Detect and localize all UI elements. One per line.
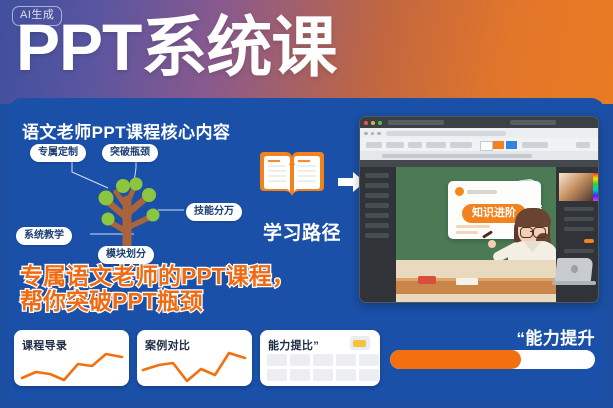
panel-item [365,223,389,228]
grid-block [336,354,356,366]
mockup-titlebar [360,117,598,128]
headline: 专属语文老师的PPT课程， 帮你突破PPT瓶颈 [20,264,295,314]
tree-leaf [99,191,114,206]
panel-item [365,233,389,238]
mockup-toolbar [360,138,598,152]
toolbar-item [522,142,548,148]
thumbnail-icon [350,336,370,350]
mockup-ribbon [360,151,598,160]
slide-body-line [456,225,490,228]
panel-item [564,227,594,231]
open-book-icon [256,146,328,204]
forward-dot-icon [371,132,375,136]
teacher-glasses-right [533,227,546,238]
header-banner: AI生成 PPT系统课 [0,0,613,104]
color-swatch-blue [506,141,517,149]
block-grid [267,354,379,381]
teacher-glasses-bridge [530,231,534,232]
grid-block [267,369,287,381]
panel-item-active [584,239,594,243]
mockup-left-panel [360,167,396,302]
card-ability-compare[interactable]: 能力提比” [260,330,380,386]
card-case-compare[interactable]: 案例对比 [137,330,252,386]
progress-bar[interactable] [390,350,595,369]
card-course-index[interactable]: 课程导录 [14,330,129,386]
desk-paper [456,278,478,285]
section-title: 语文老师PPT课程核心内容 [22,118,230,143]
mindmap-label-custom: 专属定制 [30,144,86,162]
back-dot-icon [364,132,368,136]
tree-leaf [130,178,143,191]
mindmap-label-modules: 模块划分 [98,246,154,264]
content-panel: 语文老师PPT课程核心内容 [8,98,605,400]
panel-item [365,173,389,178]
mockup-urlbar [360,128,598,138]
laptop-base [552,281,596,285]
laptop-logo-icon [571,265,578,273]
ai-generated-badge: AI生成 [12,6,62,26]
panel-item [365,203,389,208]
window-controls[interactable] [364,121,382,125]
grid-block [336,369,356,381]
progress-label: “能力提升 [517,324,596,349]
slide-body-line [456,231,478,234]
line-chart-2 [137,346,252,386]
panel-item [564,207,594,211]
mindmap-label-skills: 技能分万 [186,203,242,221]
toolbar-item [450,142,472,148]
page-title: PPT系统课 [16,7,336,87]
tree-leaf [142,188,156,202]
close-dot-icon[interactable] [364,121,368,125]
mockup-ruler [360,160,598,167]
progress-bar-fill [390,350,521,369]
tree-leaf [116,179,130,193]
learning-path-block: 学习路径 [246,146,366,251]
slide-logo-icon [455,187,464,196]
maximize-dot-icon[interactable] [378,121,382,125]
desk-red-book [418,276,436,284]
color-swatch-white [480,141,493,151]
teacher-hair-top [515,208,551,227]
panel-item [365,193,389,198]
app-screenshot-mockup: 知识进阶 [359,116,599,303]
panel-item [564,217,594,221]
toolbar-item [576,142,590,148]
grid-block [359,369,379,381]
slide-logo-text-placeholder [467,190,497,194]
color-picker-hue-strip [593,173,598,201]
headline-line-2: 帮你突破PPT瓶颈 [20,289,295,314]
mockup-nav-dots [364,132,381,136]
toolbar-item [426,142,446,148]
grid-block [267,354,287,366]
card-label: 能力提比” [268,337,319,353]
panel-item [564,249,594,253]
minimize-dot-icon[interactable] [371,121,375,125]
learning-path-label: 学习路径 [246,218,358,245]
tree-leaf [147,209,160,222]
reload-dot-icon [377,132,381,136]
headline-line-1: 专属语文老师的PPT课程， [20,263,295,289]
mockup-tab-placeholder [510,120,556,125]
toolbar-item [366,142,382,148]
grid-block [290,354,310,366]
mindmap-label-system: 系统教学 [16,227,72,245]
grid-block [313,369,333,381]
tree-leaf [102,213,115,226]
mockup-tab-placeholder [388,120,444,125]
grid-block [290,369,310,381]
bottom-card-row: 课程导录 案例对比 能力提比” [14,330,380,386]
line-chart-1 [14,346,129,386]
grid-block [313,354,333,366]
mindmap-tree: 专属定制 突破瓶颈 技能分万 系统教学 模块划分 [12,142,242,254]
toolbar-item [408,142,422,148]
mockup-url-field [386,131,506,136]
teacher-hand [488,240,496,248]
panel-item [365,213,389,218]
color-picker-gradient [559,173,595,201]
mindmap-label-breakthrough: 突破瓶颈 [102,144,158,162]
color-swatch-orange [493,141,504,149]
ribbon-placeholder [382,154,532,158]
teacher-glasses-left [520,227,533,238]
poster-root: AI生成 PPT系统课 语文老师PPT课程核心内容 [0,0,613,408]
toolbar-item [386,142,404,148]
grid-block [359,354,379,366]
panel-item [365,183,389,188]
